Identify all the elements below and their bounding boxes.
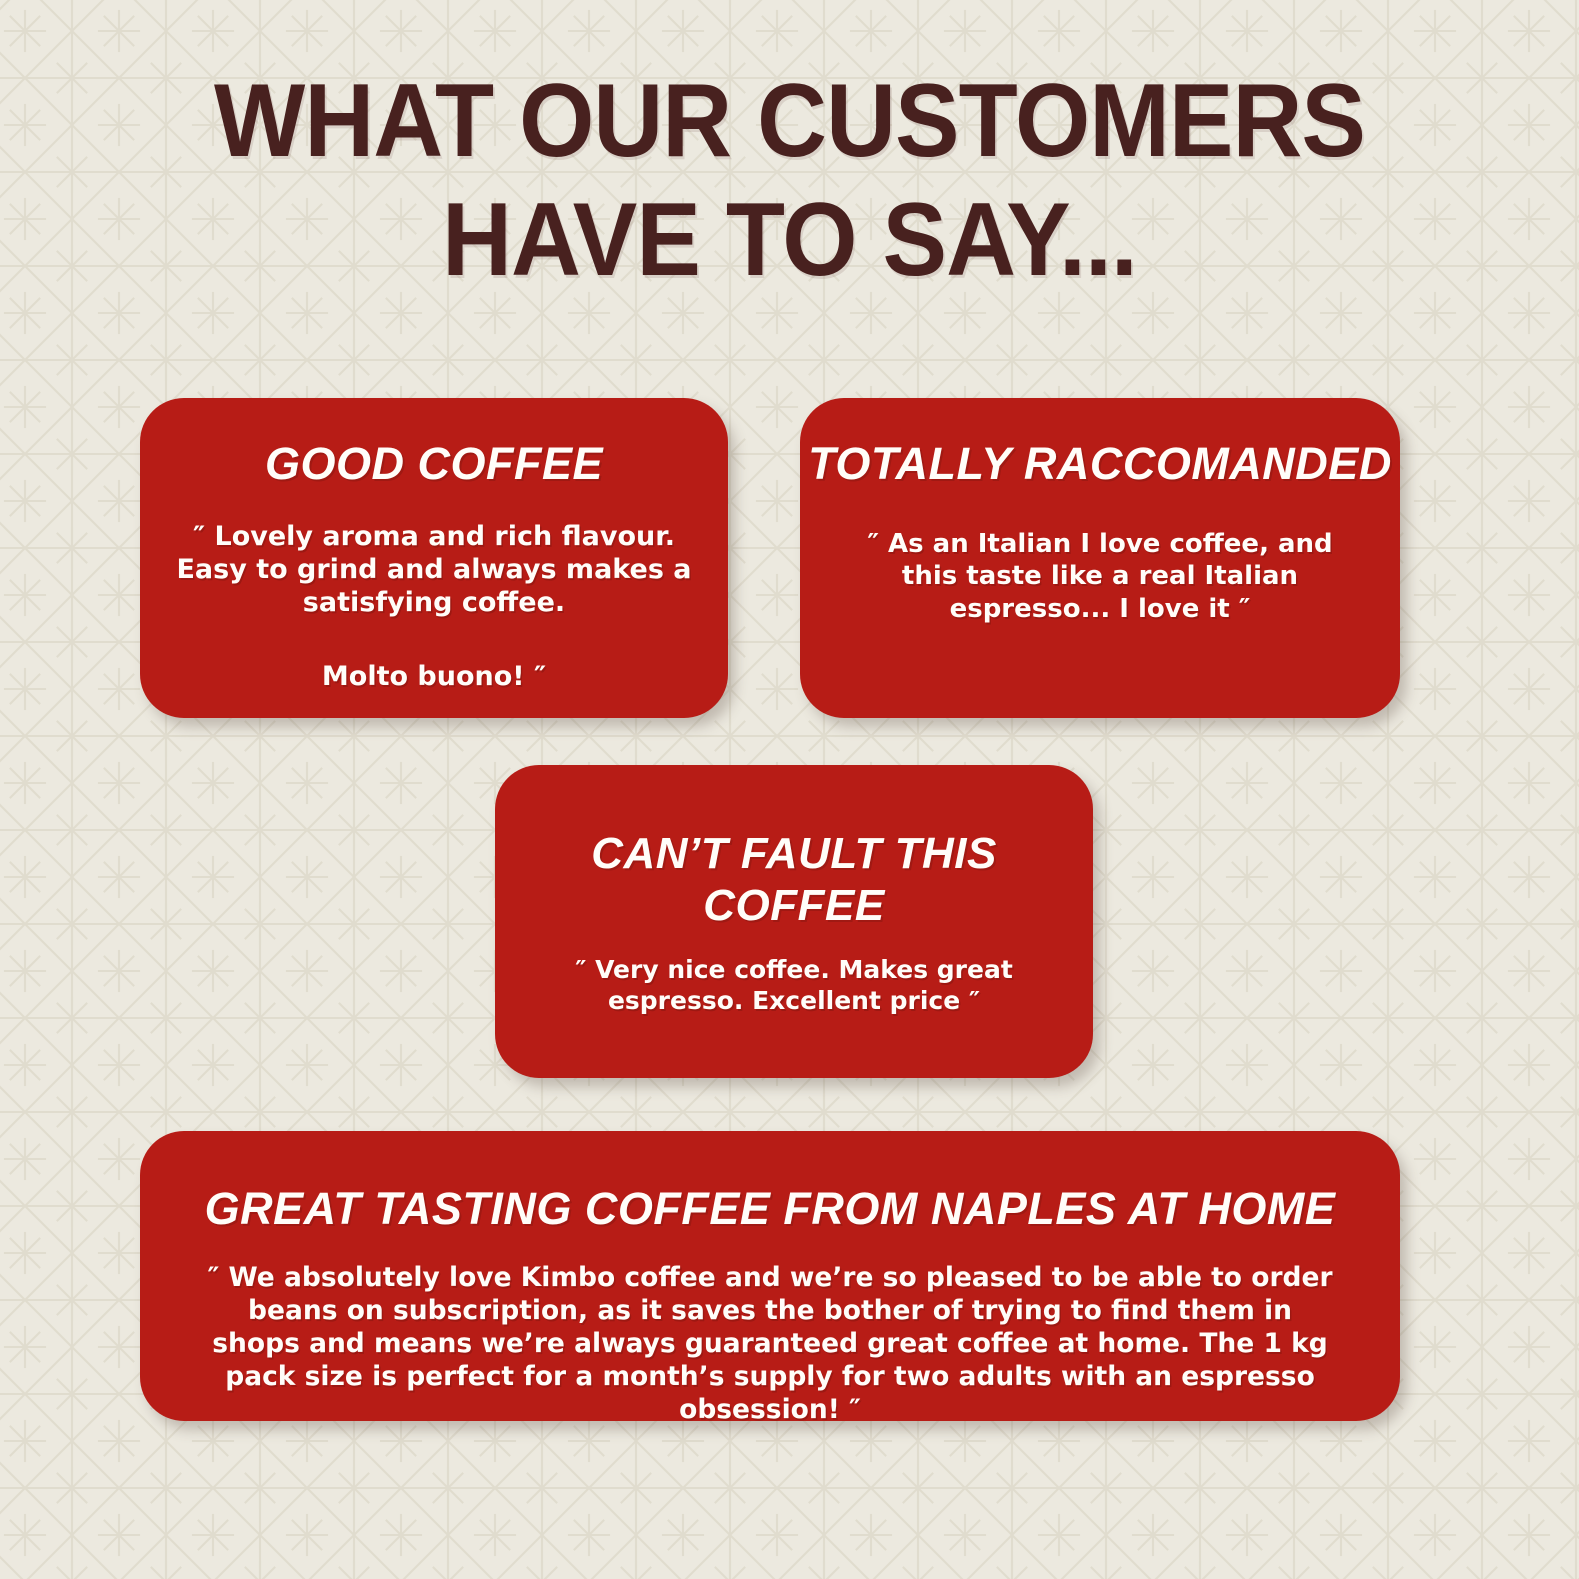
testimonial-paragraph: ″ Very nice coffee. Makes great espresso… xyxy=(565,954,1023,1016)
testimonial-paragraph: ″ As an Italian I love coffee, and this … xyxy=(844,528,1356,626)
testimonial-quote: ″ We absolutely love Kimbo coffee and we… xyxy=(140,1262,1400,1426)
testimonial-quote: ″ Lovely aroma and rich flavour. Easy to… xyxy=(140,521,728,695)
testimonial-card-cant-fault-this-coffee: CAN’T FAULT THIS COFFEE ″ Very nice coff… xyxy=(495,765,1093,1078)
testimonial-paragraph: Molto buono! ″ xyxy=(170,661,698,694)
testimonial-quote: ″ As an Italian I love coffee, and this … xyxy=(800,528,1400,626)
testimonial-card-great-tasting-coffee: GREAT TASTING COFFEE FROM NAPLES AT HOME… xyxy=(140,1131,1400,1421)
testimonial-title: TOTALLY RACCOMANDED xyxy=(800,440,1400,488)
testimonial-title: CAN’T FAULT THIS COFFEE xyxy=(495,828,1093,932)
page-title-line-1: WHAT OUR CUSTOMERS xyxy=(55,62,1523,181)
page-title: WHAT OUR CUSTOMERS HAVE TO SAY... xyxy=(0,62,1579,299)
testimonial-card-totally-raccomanded: TOTALLY RACCOMANDED ″ As an Italian I lo… xyxy=(800,398,1400,718)
testimonial-quote: ″ Very nice coffee. Makes great espresso… xyxy=(495,954,1093,1016)
testimonial-title: GOOD COFFEE xyxy=(140,440,728,488)
testimonial-paragraph: ″ We absolutely love Kimbo coffee and we… xyxy=(200,1262,1340,1426)
testimonial-title: GREAT TASTING COFFEE FROM NAPLES AT HOME xyxy=(140,1185,1400,1232)
testimonial-poster: WHAT OUR CUSTOMERS HAVE TO SAY... GOOD C… xyxy=(0,0,1579,1579)
testimonial-card-good-coffee: GOOD COFFEE ″ Lovely aroma and rich flav… xyxy=(140,398,728,718)
page-title-line-2: HAVE TO SAY... xyxy=(55,181,1523,300)
testimonial-paragraph: ″ Lovely aroma and rich flavour. Easy to… xyxy=(170,521,698,620)
